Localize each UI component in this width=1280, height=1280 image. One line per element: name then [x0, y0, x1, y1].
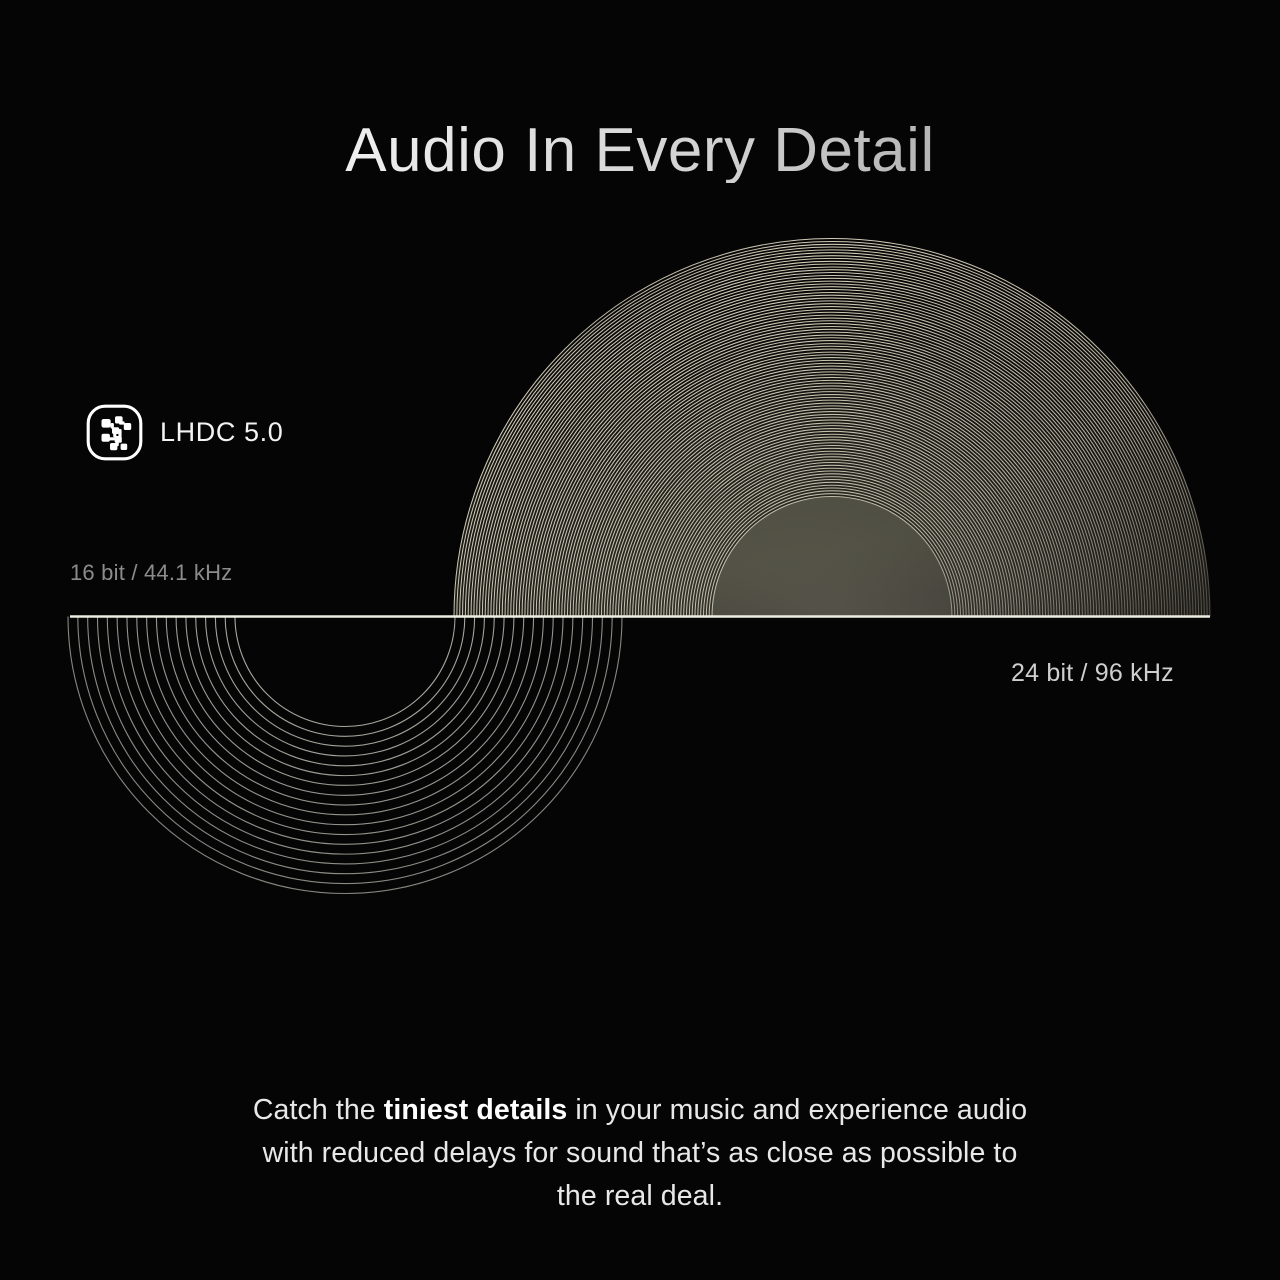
high-res-arc — [627, 412, 1037, 617]
high-res-arc — [658, 443, 1006, 617]
high-res-arc — [454, 238, 1210, 616]
high-res-arc — [505, 290, 1159, 617]
high-res-arc — [528, 312, 1137, 616]
high-res-arc — [661, 445, 1003, 616]
low-res-arc — [147, 617, 544, 815]
low-res-arc — [137, 617, 553, 825]
high-res-arc — [633, 417, 1032, 616]
high-res-arc — [621, 406, 1042, 617]
high-res-arc — [570, 355, 1094, 617]
high-res-arc — [533, 318, 1130, 616]
high-res-arc — [698, 482, 966, 616]
low-res-arc — [235, 617, 455, 727]
low-res-arc — [206, 617, 485, 756]
high-res-arc — [599, 383, 1066, 616]
high-res-arc — [596, 380, 1068, 616]
high-res-arc — [460, 244, 1205, 616]
low-res-arc — [166, 617, 524, 796]
high-res-arc — [567, 352, 1096, 616]
high-res-arc — [587, 372, 1076, 617]
high-res-arc — [539, 324, 1125, 617]
high-res-arc — [672, 457, 991, 617]
high-resolution-label: 24 bit / 96 kHz — [1011, 659, 1174, 688]
high-res-arc — [471, 256, 1193, 617]
high-res-arc — [604, 389, 1059, 617]
high-res-arc — [480, 264, 1185, 616]
high-res-arc — [511, 295, 1154, 616]
low-resolution-label: 16 bit / 44.1 kHz — [70, 560, 232, 586]
high-res-arc — [468, 253, 1196, 617]
high-res-arc — [584, 369, 1079, 616]
high-res-arc — [548, 332, 1117, 616]
low-res-arc — [97, 617, 592, 864]
high-res-arc — [701, 485, 964, 616]
high-res-arc — [477, 261, 1188, 616]
high-res-arc — [644, 429, 1020, 617]
high-res-arc — [678, 462, 986, 616]
high-res-arc — [531, 315, 1134, 616]
low-res-arc — [196, 617, 495, 766]
high-res-arc — [550, 335, 1113, 616]
high-res-arc — [635, 420, 1028, 617]
high-res-arc — [712, 497, 952, 617]
high-res-core-fill — [712, 497, 952, 617]
high-res-arc — [703, 488, 960, 617]
high-res-arc — [684, 468, 981, 616]
high-res-arc — [522, 307, 1142, 617]
high-res-arc — [536, 321, 1128, 617]
high-res-arc — [709, 494, 955, 617]
high-res-arc — [559, 344, 1105, 617]
high-res-arc — [579, 363, 1086, 616]
high-res-arc — [675, 460, 989, 617]
high-res-arc — [516, 301, 1147, 617]
high-res-arc — [607, 392, 1057, 617]
low-res-arc — [215, 617, 474, 747]
high-res-arc — [465, 250, 1198, 617]
high-res-arc — [706, 491, 957, 617]
high-res-arc — [502, 287, 1162, 617]
high-res-arc — [652, 437, 1011, 616]
high-res-arc — [508, 292, 1156, 616]
high-res-arc — [457, 242, 1207, 617]
lhdc-logo-icon — [86, 404, 143, 461]
high-res-arc — [647, 431, 1017, 616]
high-res-arc — [618, 403, 1045, 616]
high-res-arc — [686, 471, 977, 617]
high-res-arc — [553, 338, 1111, 617]
high-res-arc — [667, 451, 998, 616]
low-res-arc — [78, 617, 612, 884]
high-res-arc — [616, 400, 1049, 616]
high-res-arc — [624, 409, 1040, 617]
high-res-arc — [494, 278, 1171, 616]
high-res-arc — [499, 284, 1164, 617]
high-res-arc — [491, 275, 1173, 616]
high-res-arc — [582, 366, 1083, 616]
low-res-arc — [127, 617, 563, 835]
high-res-arc — [638, 423, 1025, 617]
caption-text: Catch the tiniest details in your music … — [245, 1089, 1035, 1219]
high-res-arc — [630, 414, 1034, 616]
arc-glow — [454, 239, 1210, 617]
high-res-arc — [669, 454, 994, 617]
low-res-arc — [225, 617, 465, 737]
high-res-arc-group — [454, 238, 1210, 616]
high-res-arc — [576, 360, 1088, 616]
high-res-arc — [590, 375, 1074, 617]
high-res-arc — [610, 395, 1054, 617]
high-res-arc — [681, 465, 983, 616]
high-res-arc — [565, 349, 1100, 616]
high-res-arc — [463, 247, 1202, 616]
page-title: Audio In Every Detail — [0, 118, 1280, 183]
high-res-arc — [641, 426, 1023, 617]
caption-before: Catch the — [253, 1094, 384, 1126]
high-res-arc — [593, 377, 1071, 616]
high-res-arc — [613, 397, 1051, 616]
high-res-arc — [542, 327, 1122, 617]
high-res-arc — [514, 298, 1151, 616]
low-res-arc — [117, 617, 573, 845]
low-res-arc — [88, 617, 603, 874]
slide-canvas: Audio In Every Detail — [0, 0, 1280, 1280]
codec-badge-label: LHDC 5.0 — [160, 417, 283, 448]
high-res-arc — [485, 270, 1179, 617]
high-res-arc — [601, 386, 1062, 617]
low-res-arc — [176, 617, 514, 786]
high-res-arc — [650, 434, 1015, 616]
high-res-arc — [573, 358, 1091, 617]
high-res-arc — [497, 281, 1168, 616]
high-res-arc — [545, 329, 1120, 616]
codec-badge[interactable]: LHDC 5.0 — [86, 404, 283, 461]
high-res-arc — [482, 267, 1181, 617]
high-res-arc — [664, 448, 1000, 616]
caption-emphasis: tiniest details — [384, 1094, 568, 1126]
high-res-arc — [556, 341, 1108, 617]
high-res-arc — [474, 258, 1190, 616]
low-res-arc — [107, 617, 582, 855]
low-res-arc — [156, 617, 533, 806]
low-res-arc-group — [68, 617, 622, 894]
high-res-arc — [562, 346, 1103, 616]
high-res-arc — [525, 310, 1139, 617]
high-res-arc — [655, 440, 1008, 617]
high-res-arc — [692, 477, 972, 617]
low-res-arc — [186, 617, 504, 776]
high-res-arc — [488, 273, 1176, 617]
high-res-arc — [519, 304, 1145, 617]
high-res-arc — [689, 474, 974, 617]
high-res-arc — [695, 479, 969, 616]
low-res-arc — [68, 617, 622, 894]
